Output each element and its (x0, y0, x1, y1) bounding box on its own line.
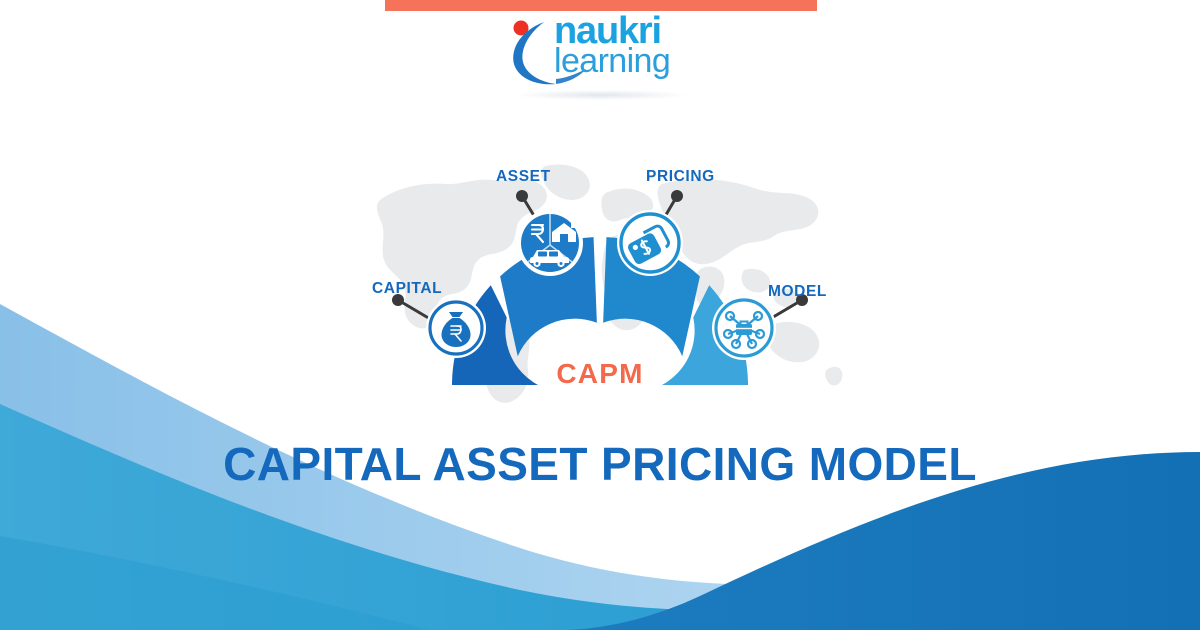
icon-badge-model[interactable] (712, 296, 776, 360)
leader-dot-asset (516, 190, 528, 202)
icon-badge-pricing[interactable] (617, 210, 683, 276)
label-capital: CAPITAL (372, 280, 442, 298)
logo-shadow (516, 90, 686, 100)
wave-left-accent (0, 536, 430, 630)
logo-wordmark: naukri learning (554, 14, 670, 77)
icon-badge-capital[interactable] (426, 298, 486, 358)
brand-logo[interactable]: naukri learning (500, 12, 700, 92)
logo-learning-text: learning (554, 46, 670, 77)
hairline-curves-right (880, 512, 1200, 630)
capm-diagram: CAPITAL ASSET PRICING MODEL CAPM (350, 140, 850, 415)
icon-badge-asset[interactable] (517, 210, 583, 276)
poster-canvas: naukri learning (0, 0, 1200, 630)
label-model: MODEL (768, 283, 827, 301)
leader-dot-pricing (671, 190, 683, 202)
label-asset: ASSET (496, 168, 551, 186)
capm-center-label: CAPM (350, 358, 850, 390)
wave-pale (600, 514, 1200, 630)
page-title: CAPITAL ASSET PRICING MODEL (0, 437, 1200, 491)
label-pricing: PRICING (646, 168, 715, 186)
